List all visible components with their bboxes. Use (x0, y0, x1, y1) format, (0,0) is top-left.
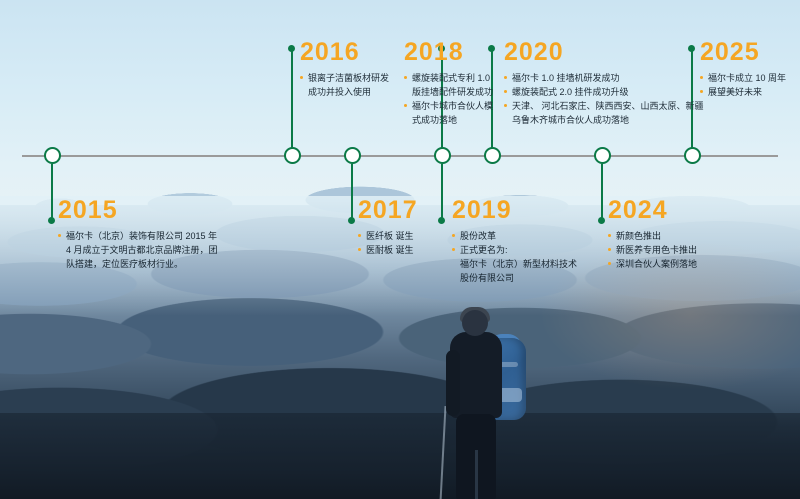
list-item: 成功并投入使用 (300, 85, 389, 99)
node-ring-icon (284, 147, 301, 164)
bullet-list-2016: 银离子洁菌板材研发 成功并投入使用 (300, 71, 389, 99)
list-item: 银离子洁菌板材研发 (300, 71, 389, 85)
list-item: 正式更名为: (452, 243, 577, 257)
timeline-entry-2019: 2019 股份改革 正式更名为: 福尔卡（北京）新型材料技术 股份有限公司 (452, 198, 577, 285)
timeline-entry-2015: 2015 福尔卡（北京）装饰有限公司 2015 年 4 月成立于文明古都北京品牌… (58, 198, 218, 271)
bullet-list-2024: 新颜色推出 新医养专用色卡推出 深圳合伙人案例落地 (608, 229, 697, 271)
node-ring-icon (484, 147, 501, 164)
bullet-list-2020: 福尔卡 1.0 挂墙机研发成功 螺旋装配式 2.0 挂件成功升级 天津、 河北石… (504, 71, 704, 127)
list-item: 螺旋装配式专利 1.0 (404, 71, 493, 85)
year-label-2024: 2024 (608, 198, 697, 223)
year-label-2017: 2017 (358, 198, 418, 223)
hiker-figure (430, 310, 550, 499)
list-item: 4 月成立于文明古都北京品牌注册，团 (58, 243, 218, 257)
list-item: 股份改革 (452, 229, 577, 243)
list-item: 版挂墙配件研发成功 (404, 85, 493, 99)
timeline-entry-2024: 2024 新颜色推出 新医养专用色卡推出 深圳合伙人案例落地 (608, 198, 697, 271)
timeline-entry-2016: 2016 银离子洁菌板材研发 成功并投入使用 (300, 40, 389, 99)
foreground-shadow (0, 413, 800, 499)
stem-cap-icon-2015 (48, 217, 55, 224)
list-item: 展望美好未来 (700, 85, 786, 99)
list-item: 队搭建，定位医疗板材行业。 (58, 257, 218, 271)
timeline-stem-2015 (51, 164, 53, 220)
timeline-entry-2017: 2017 医纤板 诞生 医耐板 诞生 (358, 198, 418, 257)
list-item: 医纤板 诞生 (358, 229, 418, 243)
list-item: 福尔卡 1.0 挂墙机研发成功 (504, 71, 704, 85)
trekking-pole (439, 406, 446, 499)
hiker-arm (446, 350, 460, 416)
year-label-2019: 2019 (452, 198, 577, 223)
node-ring-icon (344, 147, 361, 164)
stem-cap-icon-2016 (288, 45, 295, 52)
list-item: 福尔卡城市合伙人模 (404, 99, 493, 113)
hiker-leg-gap (475, 450, 478, 499)
hiker-head (462, 310, 488, 336)
timeline-entry-2018: 2018 螺旋装配式专利 1.0 版挂墙配件研发成功 福尔卡城市合伙人模 式成功… (404, 40, 493, 127)
list-item: 医耐板 诞生 (358, 243, 418, 257)
node-ring-icon (434, 147, 451, 164)
node-ring-icon (594, 147, 611, 164)
bullet-list-2015: 福尔卡（北京）装饰有限公司 2015 年 4 月成立于文明古都北京品牌注册，团 … (58, 229, 218, 271)
stem-cap-icon-2024 (598, 217, 605, 224)
list-item: 深圳合伙人案例落地 (608, 257, 697, 271)
bullet-list-2018: 螺旋装配式专利 1.0 版挂墙配件研发成功 福尔卡城市合伙人模 式成功落地 (404, 71, 493, 127)
year-label-2025: 2025 (700, 40, 786, 65)
timeline-stem-2024 (601, 164, 603, 220)
timeline-stem-2019 (441, 164, 443, 220)
list-item: 乌鲁木齐城市合伙人成功落地 (504, 113, 704, 127)
bullet-list-2017: 医纤板 诞生 医耐板 诞生 (358, 229, 418, 257)
stem-cap-icon-2019 (438, 217, 445, 224)
timeline-infographic: 2016 银离子洁菌板材研发 成功并投入使用 2018 螺旋装配式专利 1.0 … (0, 0, 800, 499)
timeline-entry-2025: 2025 福尔卡成立 10 周年 展望美好未来 (700, 40, 786, 99)
node-ring-icon (684, 147, 701, 164)
timeline-stem-2017 (351, 164, 353, 220)
year-label-2015: 2015 (58, 198, 218, 223)
stem-cap-icon-2017 (348, 217, 355, 224)
list-item: 新医养专用色卡推出 (608, 243, 697, 257)
year-label-2020: 2020 (504, 40, 704, 65)
list-item: 式成功落地 (404, 113, 493, 127)
timeline-stem-2016 (291, 48, 293, 148)
list-item: 福尔卡成立 10 周年 (700, 71, 786, 85)
list-item: 天津、 河北石家庄、陕西西安、山西太原、新疆 (504, 99, 704, 113)
list-item: 螺旋装配式 2.0 挂件成功升级 (504, 85, 704, 99)
list-item: 福尔卡（北京）装饰有限公司 2015 年 (58, 229, 218, 243)
list-item: 新颜色推出 (608, 229, 697, 243)
list-item: 福尔卡（北京）新型材料技术 (452, 257, 577, 271)
year-label-2016: 2016 (300, 40, 389, 65)
year-label-2018: 2018 (404, 40, 493, 65)
bullet-list-2019: 股份改革 正式更名为: 福尔卡（北京）新型材料技术 股份有限公司 (452, 229, 577, 285)
list-item: 股份有限公司 (452, 271, 577, 285)
timeline-axis (22, 155, 778, 157)
node-ring-icon (44, 147, 61, 164)
timeline-entry-2020: 2020 福尔卡 1.0 挂墙机研发成功 螺旋装配式 2.0 挂件成功升级 天津… (504, 40, 704, 127)
bullet-list-2025: 福尔卡成立 10 周年 展望美好未来 (700, 71, 786, 99)
